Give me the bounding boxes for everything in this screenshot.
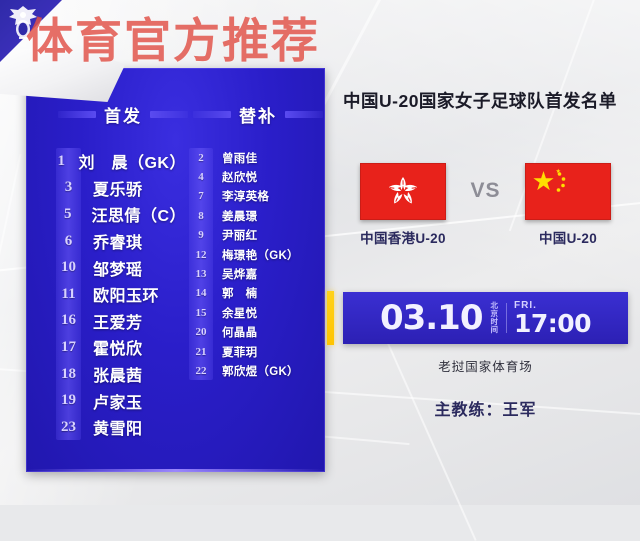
- match-date: 03.10: [380, 301, 483, 335]
- player-number: 9: [189, 229, 213, 241]
- watermark-text: 体育官方推荐: [26, 2, 320, 71]
- player-number: 5: [56, 206, 79, 223]
- header-bar-right: [150, 111, 188, 118]
- player-name: 王爱芳: [93, 309, 143, 333]
- player-number: 14: [189, 287, 213, 299]
- page-title: 中国U-20国家女子足球队首发名单: [343, 88, 617, 113]
- player-row: 11欧阳玉环: [56, 281, 186, 308]
- player-row: 14郭 楠: [189, 284, 309, 303]
- column-header-starting: 首发: [58, 102, 188, 127]
- player-row: 12梅璟艳（GK）: [189, 245, 309, 264]
- player-name: 赵欣悦: [222, 169, 257, 185]
- player-row: 15余星悦: [189, 303, 309, 322]
- player-number: 21: [189, 346, 213, 358]
- player-number: 11: [56, 286, 81, 303]
- player-name: 曾雨佳: [222, 150, 257, 166]
- player-number: 13: [189, 268, 213, 280]
- player-name: 邹梦瑶: [93, 256, 143, 280]
- player-row: 5汪思倩（C）: [56, 201, 186, 228]
- player-row: 13吴烨嘉: [189, 264, 309, 283]
- home-team-name: 中国香港U-20: [360, 227, 446, 247]
- home-team-block: 中国香港U-20: [351, 163, 454, 247]
- player-row: 8姜晨璟: [189, 206, 309, 225]
- player-name: 夏菲玥: [222, 344, 257, 360]
- matchup-section: 中国香港U-20 VS 中国U-20: [343, 163, 628, 258]
- player-name: 黄雪阳: [93, 415, 143, 439]
- header-bar-left: [58, 111, 96, 118]
- lineup-panel: 首发 替补 1刘 晨（GK）3夏乐骄5汪思倩（C）6乔睿琪10邹梦瑶11欧阳玉环…: [26, 68, 325, 472]
- player-row: 2曾雨佳: [189, 148, 309, 167]
- player-row: 6乔睿琪: [56, 228, 186, 255]
- player-name: 卢家玉: [93, 389, 143, 413]
- match-time: 17:00: [514, 311, 591, 336]
- player-number: 12: [189, 249, 213, 261]
- player-name: 郭欣煜（GK）: [222, 363, 299, 379]
- player-name: 汪思倩（C）: [91, 202, 186, 226]
- player-number: 3: [56, 179, 81, 196]
- player-number: 16: [56, 312, 81, 329]
- player-number: 6: [56, 233, 81, 250]
- datetime-divider: [506, 303, 507, 333]
- away-team-block: 中国U-20: [517, 163, 620, 247]
- player-name: 夏乐骄: [93, 176, 143, 200]
- player-number: 19: [56, 392, 81, 409]
- player-number: 10: [56, 259, 81, 276]
- china-flag-icon: [525, 163, 611, 220]
- player-row: 9尹丽红: [189, 226, 309, 245]
- player-row: 23黄雪阳: [56, 414, 186, 441]
- player-number: 20: [189, 326, 213, 338]
- header-bar-left: [193, 111, 231, 118]
- player-row: 17霍悦欣: [56, 334, 186, 361]
- yellow-accent-bar: [327, 291, 334, 345]
- player-number: 18: [56, 366, 81, 383]
- player-number: 23: [56, 419, 81, 436]
- player-number: 4: [189, 171, 213, 183]
- away-team-name: 中国U-20: [539, 227, 597, 247]
- player-name: 刘 晨（GK）: [78, 149, 186, 173]
- player-name: 吴烨嘉: [222, 266, 257, 282]
- player-number: 2: [189, 152, 213, 164]
- player-number: 8: [189, 210, 213, 222]
- player-name: 郭 楠: [222, 285, 257, 301]
- venue-label: 老挝国家体育场: [343, 356, 628, 375]
- player-name: 张晨茜: [93, 362, 143, 386]
- player-row: 16王爱芳: [56, 308, 186, 335]
- player-name: 梅璟艳（GK）: [222, 247, 299, 263]
- player-row: 7李淳英格: [189, 187, 309, 206]
- player-number: 1: [56, 153, 66, 170]
- player-number: 15: [189, 307, 213, 319]
- player-number: 7: [189, 190, 213, 202]
- player-name: 李淳英格: [222, 188, 269, 204]
- column-header-substitutes: 替补: [193, 102, 323, 127]
- player-row: 3夏乐骄: [56, 175, 186, 202]
- substitutes-roster-list: 2曾雨佳4赵欣悦7李淳英格8姜晨璟9尹丽红12梅璟艳（GK）13吴烨嘉14郭 楠…: [189, 148, 309, 381]
- player-row: 10邹梦瑶: [56, 254, 186, 281]
- header-bar-right: [285, 111, 323, 118]
- player-name: 乔睿琪: [93, 229, 143, 253]
- background-streak: [0, 154, 21, 526]
- timezone-char: 间: [490, 326, 498, 334]
- player-row: 20何晶晶: [189, 323, 309, 342]
- player-number: 22: [189, 365, 213, 377]
- player-name: 何晶晶: [222, 324, 257, 340]
- timezone-label: 北 京 时 间: [489, 302, 499, 334]
- hong-kong-flag-icon: [360, 163, 446, 220]
- player-name: 余星悦: [222, 305, 257, 321]
- coach-label: 主教练：王军: [343, 396, 628, 420]
- player-row: 22郭欣煜（GK）: [189, 361, 309, 380]
- time-block: FRI. 17:00: [514, 300, 591, 336]
- player-row: 4赵欣悦: [189, 167, 309, 186]
- player-row: 21夏菲玥: [189, 342, 309, 361]
- player-name: 尹丽红: [222, 227, 257, 243]
- vs-label: VS: [470, 179, 500, 203]
- player-row: 18张晨茜: [56, 361, 186, 388]
- player-number: 17: [56, 339, 81, 356]
- starting-roster-list: 1刘 晨（GK）3夏乐骄5汪思倩（C）6乔睿琪10邹梦瑶11欧阳玉环16王爱芳1…: [56, 148, 186, 441]
- substitutes-header-label: 替补: [239, 102, 277, 127]
- player-row: 19卢家玉: [56, 387, 186, 414]
- player-name: 欧阳玉环: [93, 282, 159, 306]
- starting-header-label: 首发: [104, 102, 142, 127]
- player-name: 姜晨璟: [222, 208, 257, 224]
- player-row: 1刘 晨（GK）: [56, 148, 186, 175]
- datetime-bar: 03.10 北 京 时 间 FRI. 17:00: [343, 292, 628, 344]
- player-name: 霍悦欣: [93, 335, 143, 359]
